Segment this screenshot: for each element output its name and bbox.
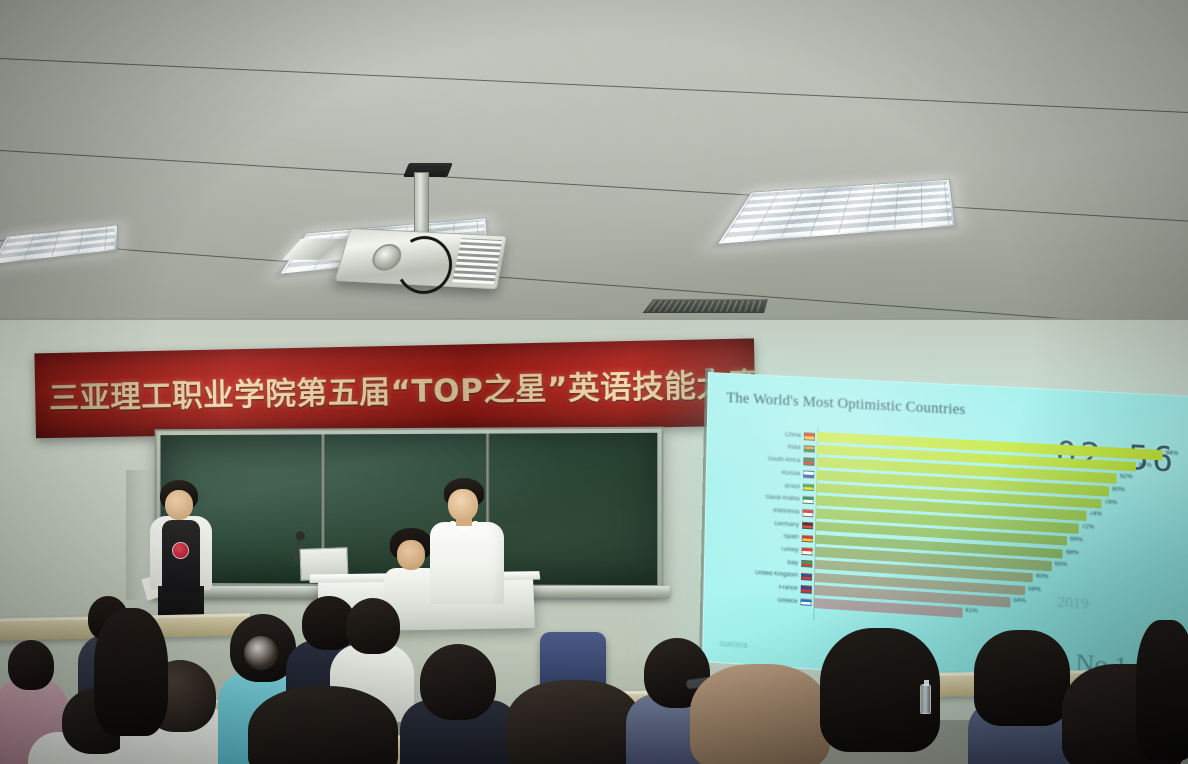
country-flag-icon	[802, 522, 813, 530]
chart-value-label: 87%	[1139, 462, 1152, 469]
chart-category-label: Brazil	[725, 480, 803, 490]
chart-value-label: 78%	[1104, 499, 1117, 506]
audience-head	[506, 680, 642, 764]
ceiling	[0, 0, 1188, 360]
hair-bun-icon	[244, 636, 278, 670]
chart-category-label: South Africa	[725, 454, 803, 464]
audience-head	[94, 608, 168, 736]
audience-member	[400, 644, 520, 764]
contestant-speaking	[424, 478, 510, 604]
chart-value-label: 74%	[1089, 511, 1102, 518]
country-flag-icon	[801, 547, 812, 555]
bar-chart: China94%India87%South Africa82%Russia80%…	[722, 418, 1185, 640]
speaker-shirt	[430, 522, 504, 604]
audience-member	[248, 686, 398, 764]
chart-value-label: 58%	[1028, 586, 1041, 593]
chart-category-label: United Kingdom	[723, 568, 801, 579]
water-bottle	[920, 684, 931, 714]
ceiling-light-sheen	[0, 0, 1188, 360]
country-flag-icon	[803, 470, 814, 478]
country-flag-icon	[801, 560, 812, 568]
chart-value-label: 65%	[1055, 561, 1068, 568]
audience-member	[1136, 620, 1188, 764]
chart-category-label: India	[725, 441, 803, 451]
event-banner-text: 三亚理工职业学院第五届“TOP之星”英语技能大赛之英语口语比赛	[48, 359, 749, 417]
chart-value-label: 68%	[1066, 549, 1079, 556]
chart-category-label: Greece	[722, 594, 800, 605]
country-flag-icon	[802, 534, 813, 542]
chart-value-label: 41%	[965, 608, 978, 615]
country-flag-icon	[803, 458, 814, 466]
chart-category-label: Turkey	[723, 543, 801, 554]
chart-value-label: 54%	[1013, 598, 1026, 605]
seated-head	[397, 540, 425, 570]
chart-category-label: France	[722, 581, 800, 592]
chart-category-label: Germany	[724, 518, 802, 529]
audience-member	[506, 680, 642, 764]
country-flag-icon	[804, 445, 815, 453]
audience-head	[248, 686, 398, 764]
audience-head	[420, 644, 496, 720]
classroom-photo-scene: 三亚理工职业学院第五届“TOP之星”英语技能大赛之英语口语比赛 The Worl…	[0, 0, 1188, 764]
slide-title: The World's Most Optimistic Countries	[726, 390, 965, 419]
audience-head	[974, 630, 1070, 726]
country-flag-icon	[802, 509, 813, 517]
chart-value-label: 60%	[1036, 573, 1049, 580]
chart-value-label: 69%	[1070, 536, 1083, 543]
event-banner: 三亚理工职业学院第五届“TOP之星”英语技能大赛之英语口语比赛	[34, 338, 755, 438]
chart-value-label: 80%	[1112, 487, 1125, 494]
country-flag-icon	[800, 598, 811, 606]
chart-value-label: 82%	[1120, 474, 1133, 481]
audience-head	[690, 664, 830, 764]
chart-value-label: 72%	[1081, 524, 1094, 531]
chart-category-label: Saudi Arabia	[724, 492, 802, 503]
air-vent	[643, 299, 768, 313]
projection-screen: The World's Most Optimistic Countries 02…	[702, 372, 1188, 696]
chart-category-label: Russia	[725, 467, 803, 477]
chart-category-label: Indonesia	[724, 505, 802, 516]
audience-head	[8, 640, 54, 690]
projector-mount-arm	[414, 172, 429, 234]
chart-value-label: 94%	[1165, 450, 1178, 457]
country-flag-icon	[801, 573, 812, 581]
uniform-emblem-icon	[172, 542, 189, 559]
audience-member	[690, 664, 830, 764]
audience-head	[1136, 620, 1188, 760]
chart-bar-rows: China94%India87%South Africa82%Russia80%…	[722, 426, 1185, 634]
host-head	[165, 490, 193, 520]
audience-head	[346, 598, 400, 654]
chart-category-label: China	[726, 429, 804, 439]
chart-category-label: Spain	[724, 530, 802, 541]
country-flag-icon	[801, 585, 812, 593]
host-judge	[148, 480, 216, 610]
country-flag-icon	[803, 483, 814, 491]
audience-member	[86, 608, 182, 758]
speaker-head	[448, 489, 478, 521]
country-flag-icon	[804, 432, 815, 440]
projection-screen-surface: The World's Most Optimistic Countries 02…	[702, 372, 1188, 696]
chart-category-label: Italy	[723, 556, 801, 567]
country-flag-icon	[803, 496, 814, 504]
